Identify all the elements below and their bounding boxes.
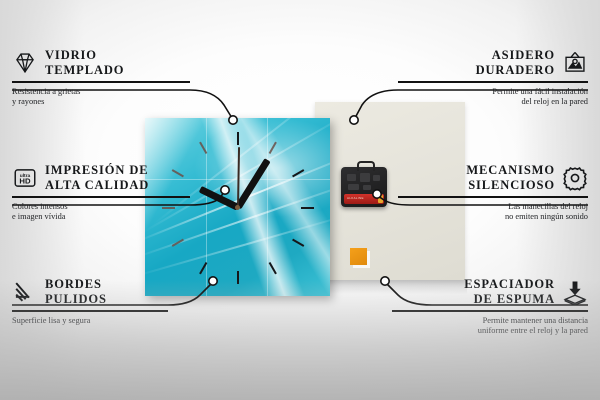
feature-vidrio-templado: VIDRIO TEMPLADO Resistencia a grietas y …	[12, 48, 217, 108]
feature-divider	[12, 310, 168, 312]
feature-title-line1: VIDRIO	[45, 48, 97, 62]
feature-asidero-duradero: ASIDERO DURADERO Permite una fácil insta…	[383, 48, 588, 108]
feature-desc-line1: Superficie lisa y segura	[12, 316, 90, 325]
feature-heading: ultra HD IMPRESIÓN DE ALTA CALIDAD	[12, 163, 217, 192]
clock-tick	[301, 207, 314, 209]
feature-description: Superficie lisa y segura	[12, 316, 217, 327]
feature-title-line1: ESPACIADOR	[464, 277, 555, 291]
feature-description: Colores intensos e imagen vívida	[12, 202, 217, 223]
feature-desc-line2: uniforme entre el reloj y la pared	[478, 326, 588, 335]
feature-desc-line2: del reloj en la pared	[521, 97, 588, 106]
feature-title-line1: ASIDERO	[492, 48, 555, 62]
ultra-hd-icon: ultra HD	[12, 165, 38, 191]
feature-divider	[12, 81, 190, 83]
mechanism-detail	[363, 185, 371, 190]
hand-pin	[235, 205, 240, 210]
diamond-icon	[12, 50, 38, 76]
feature-title-line1: MECANISMO	[466, 163, 555, 177]
feature-heading: ASIDERO DURADERO	[383, 48, 588, 77]
feature-heading: BORDES PULIDOS	[12, 277, 217, 306]
glass-pane-line	[267, 118, 268, 296]
feature-heading: ESPACIADOR DE ESPUMA	[383, 277, 588, 306]
feature-title-line1: IMPRESIÓN DE	[45, 163, 149, 177]
foam-spacer-press-icon	[562, 279, 588, 305]
mechanism-detail	[360, 173, 370, 182]
clock-tick	[237, 271, 239, 284]
feature-desc-line1: Permite una fácil instalación	[492, 87, 588, 96]
feature-description: Permite mantener una distancia uniforme …	[383, 316, 588, 337]
feature-desc-line1: Colores intensos	[12, 202, 68, 211]
foam-spacer	[350, 248, 367, 265]
mechanism-detail	[373, 175, 380, 181]
feature-title-line2: PULIDOS	[45, 292, 107, 306]
feature-description: Resistencia a grietas y rayones	[12, 87, 217, 108]
feature-heading: VIDRIO TEMPLADO	[12, 48, 217, 77]
feature-espaciador-de-espuma: ESPACIADOR DE ESPUMA Permite mantener un…	[383, 277, 588, 337]
clock-tick	[237, 132, 239, 145]
feature-divider	[392, 310, 588, 312]
feature-title-line1: BORDES	[45, 277, 102, 291]
clock-mechanism: ALKALINE	[341, 167, 387, 207]
feature-heading: MECANISMO SILENCIOSO	[383, 163, 588, 192]
gear-icon	[562, 165, 588, 191]
mechanism-detail	[348, 184, 359, 190]
feature-title-line2: DE ESPUMA	[474, 292, 555, 306]
polished-edges-icon	[12, 279, 38, 305]
svg-text:HD: HD	[19, 176, 31, 185]
feature-bordes-pulidos: BORDES PULIDOS Superficie lisa y segura	[12, 277, 217, 326]
feature-description: Permite una fácil instalación del reloj …	[383, 87, 588, 108]
feature-title-line2: SILENCIOSO	[468, 178, 555, 192]
feature-desc-line2: e imagen vívida	[12, 212, 66, 221]
feature-title-line2: ALTA CALIDAD	[45, 178, 149, 192]
feature-desc-line2: no emiten ningún sonido	[505, 212, 588, 221]
feature-desc-line1: Permite mantener una distancia	[483, 316, 588, 325]
feature-title-line2: TEMPLADO	[45, 63, 124, 77]
feature-desc-line2: y rayones	[12, 97, 44, 106]
feature-description: Las manecillas del reloj no emiten ningú…	[383, 202, 588, 223]
battery: ALKALINE	[344, 194, 384, 204]
picture-frame-hanger-icon	[562, 50, 588, 76]
second-hand	[237, 147, 240, 207]
mechanism-hanger	[357, 161, 375, 171]
feature-impresion-alta-calidad: ultra HD IMPRESIÓN DE ALTA CALIDAD Color…	[12, 163, 217, 223]
infographic-canvas: ALKALINE	[0, 0, 600, 400]
feature-mecanismo-silencioso: MECANISMO SILENCIOSO Las manecillas del …	[383, 163, 588, 223]
feature-desc-line1: Resistencia a grietas	[12, 87, 80, 96]
mechanism-detail	[347, 174, 356, 181]
feature-divider	[398, 81, 588, 83]
feature-divider	[398, 196, 588, 198]
battery-label: ALKALINE	[347, 196, 364, 200]
feature-title-line2: DURADERO	[476, 63, 555, 77]
feature-desc-line1: Las manecillas del reloj	[508, 202, 588, 211]
feature-divider	[12, 196, 190, 198]
